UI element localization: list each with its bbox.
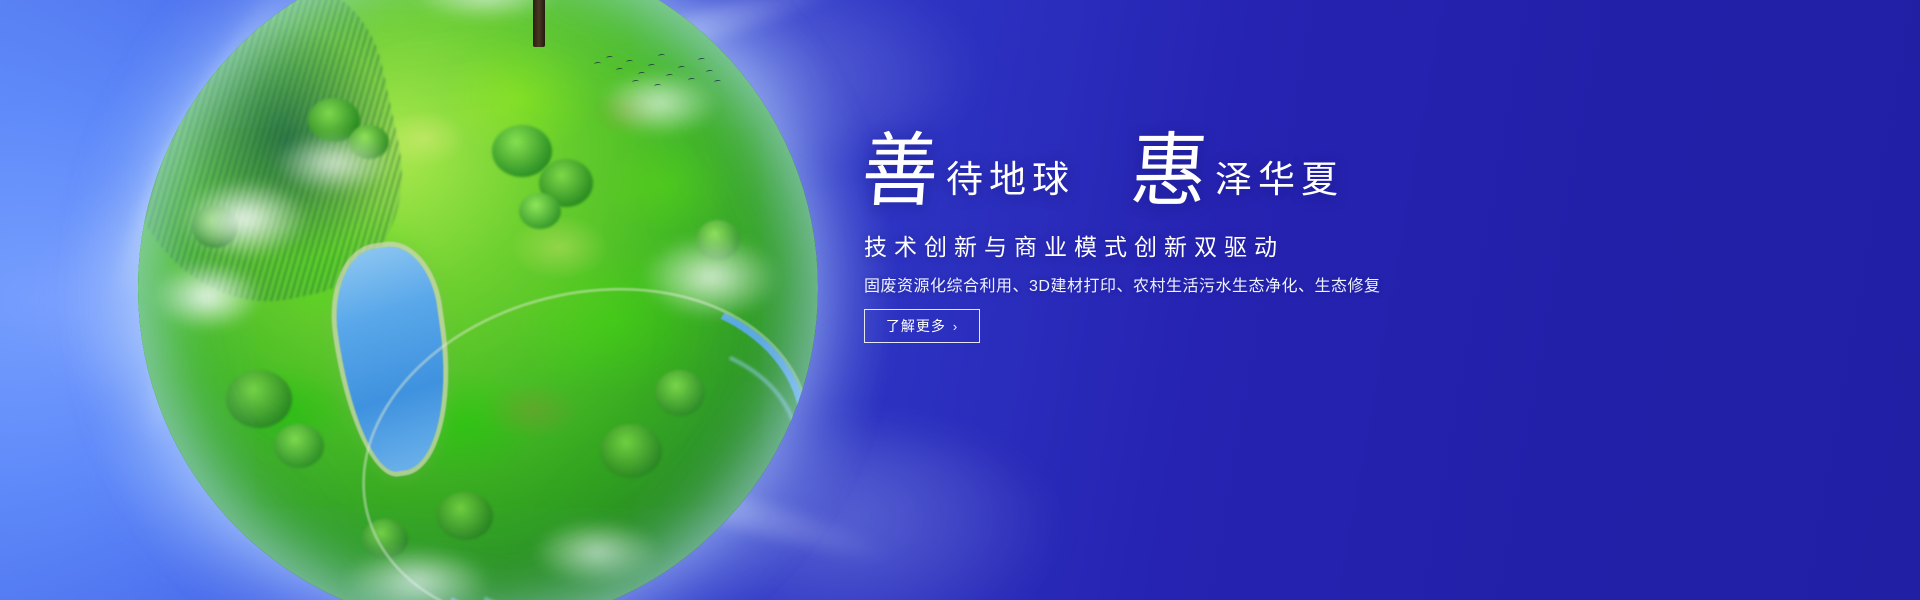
description: 固废资源化综合利用、3D建材打印、农村生活污水生态净化、生态修复	[864, 272, 1380, 296]
globe-illustration	[138, 0, 818, 600]
chevron-right-icon: ›	[953, 320, 958, 333]
banner-content: 善 待地球 惠 泽华夏 技术创新与商业模式创新双驱动 固废资源化综合利用、3D建…	[862, 0, 1582, 600]
headline-char-hui: 惠	[1128, 136, 1209, 210]
globe-sphere	[138, 0, 818, 600]
learn-more-label: 了解更多	[886, 316, 946, 336]
headline-text-daidiqiu: 待地球	[946, 162, 1075, 208]
learn-more-button[interactable]: 了解更多 ›	[864, 309, 980, 343]
headline-char-shan: 善	[859, 136, 940, 210]
large-tree-icon	[437, 0, 641, 43]
bird-flock-icon	[592, 52, 722, 90]
hero-banner: 善 待地球 惠 泽华夏 技术创新与商业模式创新双驱动 固废资源化综合利用、3D建…	[0, 0, 1920, 600]
headline-text-zehuaxia: 泽华夏	[1215, 162, 1344, 208]
subtitle: 技术创新与商业模式创新双驱动	[864, 228, 1284, 262]
headline: 善 待地球 惠 泽华夏	[862, 138, 1344, 208]
